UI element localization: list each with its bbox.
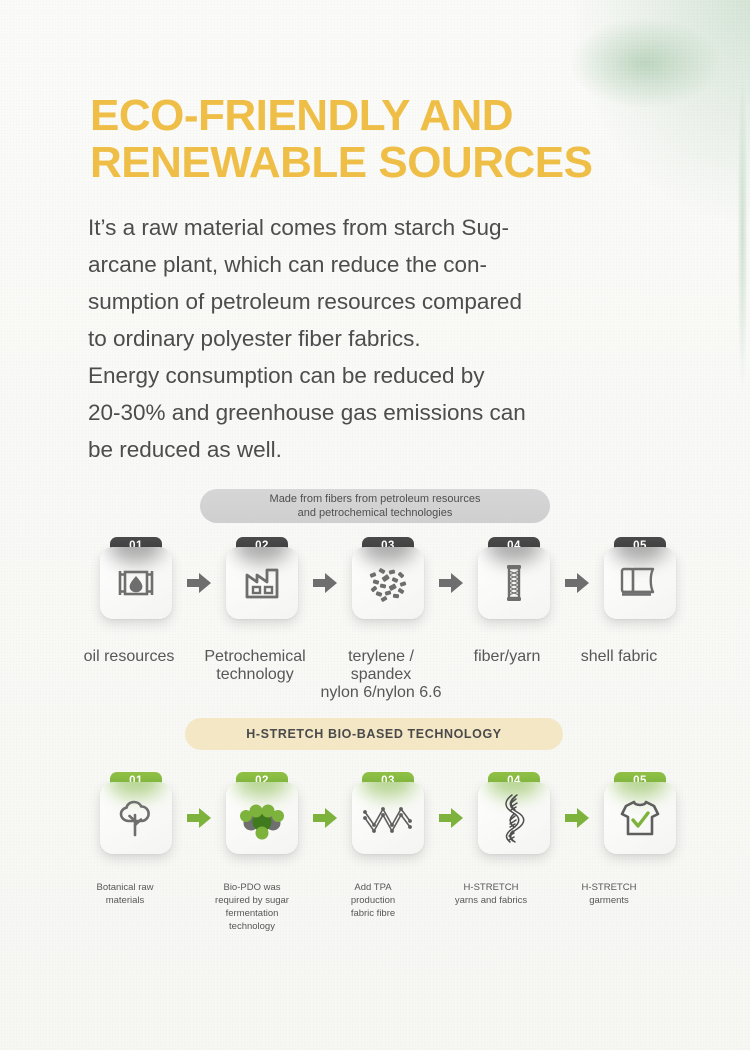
step-card[interactable]: [100, 547, 172, 619]
conventional-banner-line-1: Made from fibers from petroleum resource…: [270, 492, 481, 506]
step-card[interactable]: [352, 547, 424, 619]
step-card[interactable]: [226, 782, 298, 854]
step-caption-hstretch-yarns: H-STRETCH yarns and fabrics: [428, 881, 554, 907]
tree-icon: [114, 796, 158, 840]
flow-arrow: [562, 547, 592, 619]
step-caption-terylene: terylene / spandex nylon 6/nylon 6.6: [318, 648, 444, 702]
flow-arrow: [562, 782, 592, 854]
step-caption-shell-fabric: shell fabric: [556, 648, 682, 666]
flow-step-shell-fabric[interactable]: 05: [592, 537, 688, 619]
body-paragraph-1-line-3: sumption of petroleum resources compared: [88, 283, 656, 320]
step-caption-oil-resources: oil resources: [66, 648, 192, 666]
body-copy: It’s a raw material comes from starch Su…: [88, 209, 656, 468]
body-paragraph-1-line-4: to ordinary polyester fiber fabrics.: [88, 320, 656, 357]
flow-step-add-tpa[interactable]: 03: [340, 772, 436, 854]
flow-arrow: [436, 547, 466, 619]
flow-arrow: [310, 782, 340, 854]
step-card[interactable]: [352, 782, 424, 854]
step-caption-petrochemical: Petrochemical technology: [192, 648, 318, 684]
flow-arrow: [184, 547, 214, 619]
arrow-right-icon: [187, 808, 211, 828]
fabric-bolt-icon: [617, 563, 663, 603]
biobased-flow-row: 01 02: [88, 772, 663, 854]
arrow-right-icon: [439, 573, 463, 593]
flow-arrow: [310, 547, 340, 619]
flow-arrow: [184, 782, 214, 854]
step-caption-bio-pdo: Bio-PDO was required by sugar fermentati…: [189, 881, 315, 933]
page-title-line-1: ECO-FRIENDLY AND: [90, 92, 690, 139]
body-paragraph-2-line-1: Energy consumption can be reduced by: [88, 357, 656, 394]
yarn-spool-icon: [492, 560, 536, 606]
card-glow: [360, 782, 416, 798]
flow-step-petrochemical[interactable]: 02: [214, 537, 310, 619]
body-paragraph-1-line-2: arcane plant, which can reduce the con-: [88, 246, 656, 283]
arrow-right-icon: [565, 573, 589, 593]
page-title: ECO-FRIENDLY AND RENEWABLE SOURCES: [90, 92, 690, 186]
tshirt-check-icon: [617, 795, 663, 841]
oil-barrel-icon: [114, 561, 158, 605]
arrow-right-icon: [187, 573, 211, 593]
conventional-flow-row: 01: [88, 537, 663, 619]
card-glow: [612, 547, 668, 563]
step-caption-hstretch-garments: H-STRETCH garments: [546, 881, 672, 907]
body-paragraph-2-line-2: 20-30% and greenhouse gas emissions can: [88, 394, 656, 431]
biobased-flow-banner: H-STRETCH BIO-BASED TECHNOLOGY: [185, 718, 563, 750]
flow-step-terylene[interactable]: 03: [340, 537, 436, 619]
flow-step-hstretch-yarns[interactable]: 04: [466, 772, 562, 854]
body-paragraph-1-line-1: It’s a raw material comes from starch Su…: [88, 209, 656, 246]
arrow-right-icon: [313, 808, 337, 828]
step-card[interactable]: [478, 782, 550, 854]
step-card[interactable]: [100, 782, 172, 854]
flow-step-botanical-raw[interactable]: 01: [88, 772, 184, 854]
body-paragraph-2-line-3: be reduced as well.: [88, 431, 656, 468]
flow-step-hstretch-garments[interactable]: 05: [592, 772, 688, 854]
arrow-right-icon: [439, 808, 463, 828]
arrow-right-icon: [313, 573, 337, 593]
flow-step-bio-pdo[interactable]: 02: [214, 772, 310, 854]
flow-step-oil-resources[interactable]: 01: [88, 537, 184, 619]
flow-arrow: [436, 782, 466, 854]
factory-icon: [240, 561, 284, 605]
step-caption-fiber-yarn: fiber/yarn: [444, 648, 570, 666]
page-title-line-2: RENEWABLE SOURCES: [90, 139, 690, 186]
arrow-right-icon: [565, 808, 589, 828]
step-caption-add-tpa: Add TPA production fabric fibre: [310, 881, 436, 920]
molecule-icon: [238, 796, 286, 840]
step-card[interactable]: [478, 547, 550, 619]
flow-step-fiber-yarn[interactable]: 04: [466, 537, 562, 619]
step-card[interactable]: [604, 547, 676, 619]
conventional-flow-banner: Made from fibers from petroleum resource…: [200, 489, 550, 523]
biobased-banner-label: H-STRETCH BIO-BASED TECHNOLOGY: [246, 727, 502, 741]
step-card[interactable]: [604, 782, 676, 854]
twisted-yarn-icon: [497, 792, 531, 844]
plastic-chips-icon: [365, 561, 411, 605]
step-card[interactable]: [226, 547, 298, 619]
step-caption-botanical-raw: Botanical raw materials: [62, 881, 188, 907]
conventional-banner-line-2: and petrochemical technologies: [270, 506, 481, 520]
polymer-chain-icon: [362, 798, 414, 838]
